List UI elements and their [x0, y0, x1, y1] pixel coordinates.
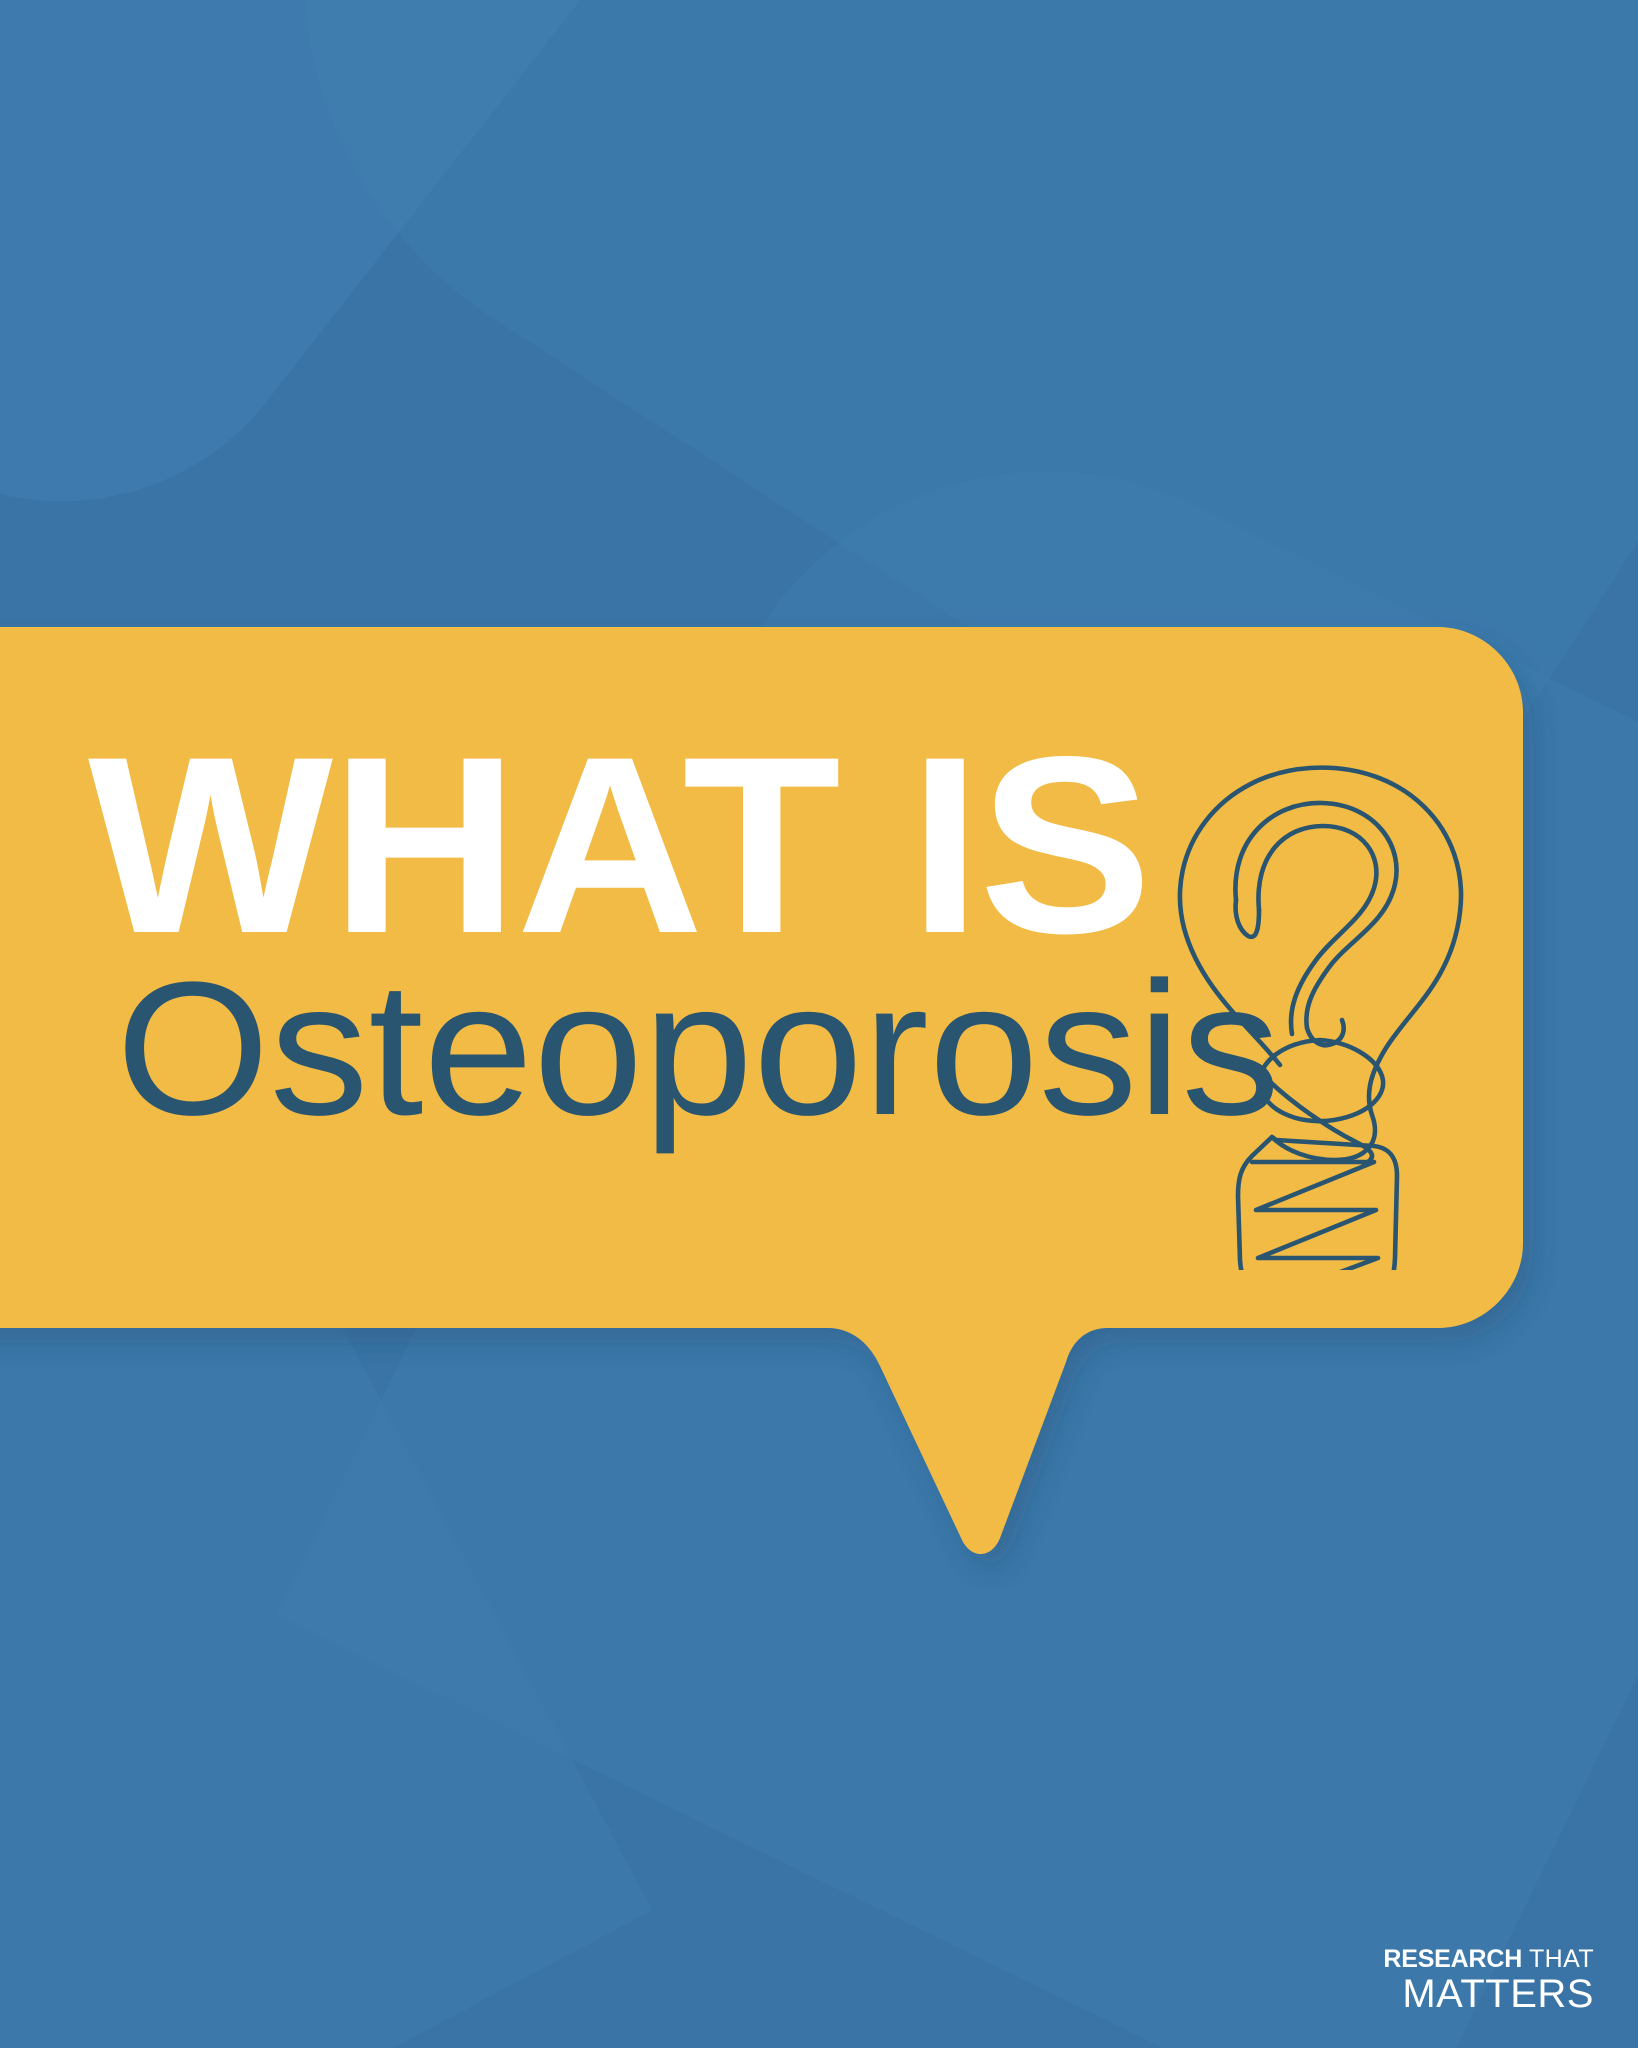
- socket-thread-zigzag: [1252, 1162, 1378, 1270]
- page-title: WHAT IS: [88, 745, 1200, 947]
- poster-canvas: WHAT IS Osteoporosis: [0, 0, 1638, 2048]
- brand-word-research: RESEARCH: [1383, 1945, 1522, 1973]
- question-mark-tail: [1236, 900, 1259, 937]
- question-mark-inner: [1258, 826, 1376, 1034]
- brand-logo: RESEARCH THAT MATTERS: [1383, 1947, 1594, 2014]
- background-shape-top-left: [0, 0, 661, 606]
- brand-word-that: THAT: [1522, 1945, 1594, 1973]
- page-subtitle: Osteoporosis: [116, 959, 1210, 1140]
- brand-word-matters: MATTERS: [1383, 1974, 1594, 2014]
- headline-block: WHAT IS Osteoporosis: [88, 745, 1168, 1139]
- brand-logo-line-1: RESEARCH THAT: [1383, 1947, 1594, 1972]
- bulb-neck-cross: [1264, 1076, 1372, 1162]
- bulb-neck-weave: [1260, 1040, 1383, 1121]
- lightbulb-question-icon: [1160, 690, 1500, 1270]
